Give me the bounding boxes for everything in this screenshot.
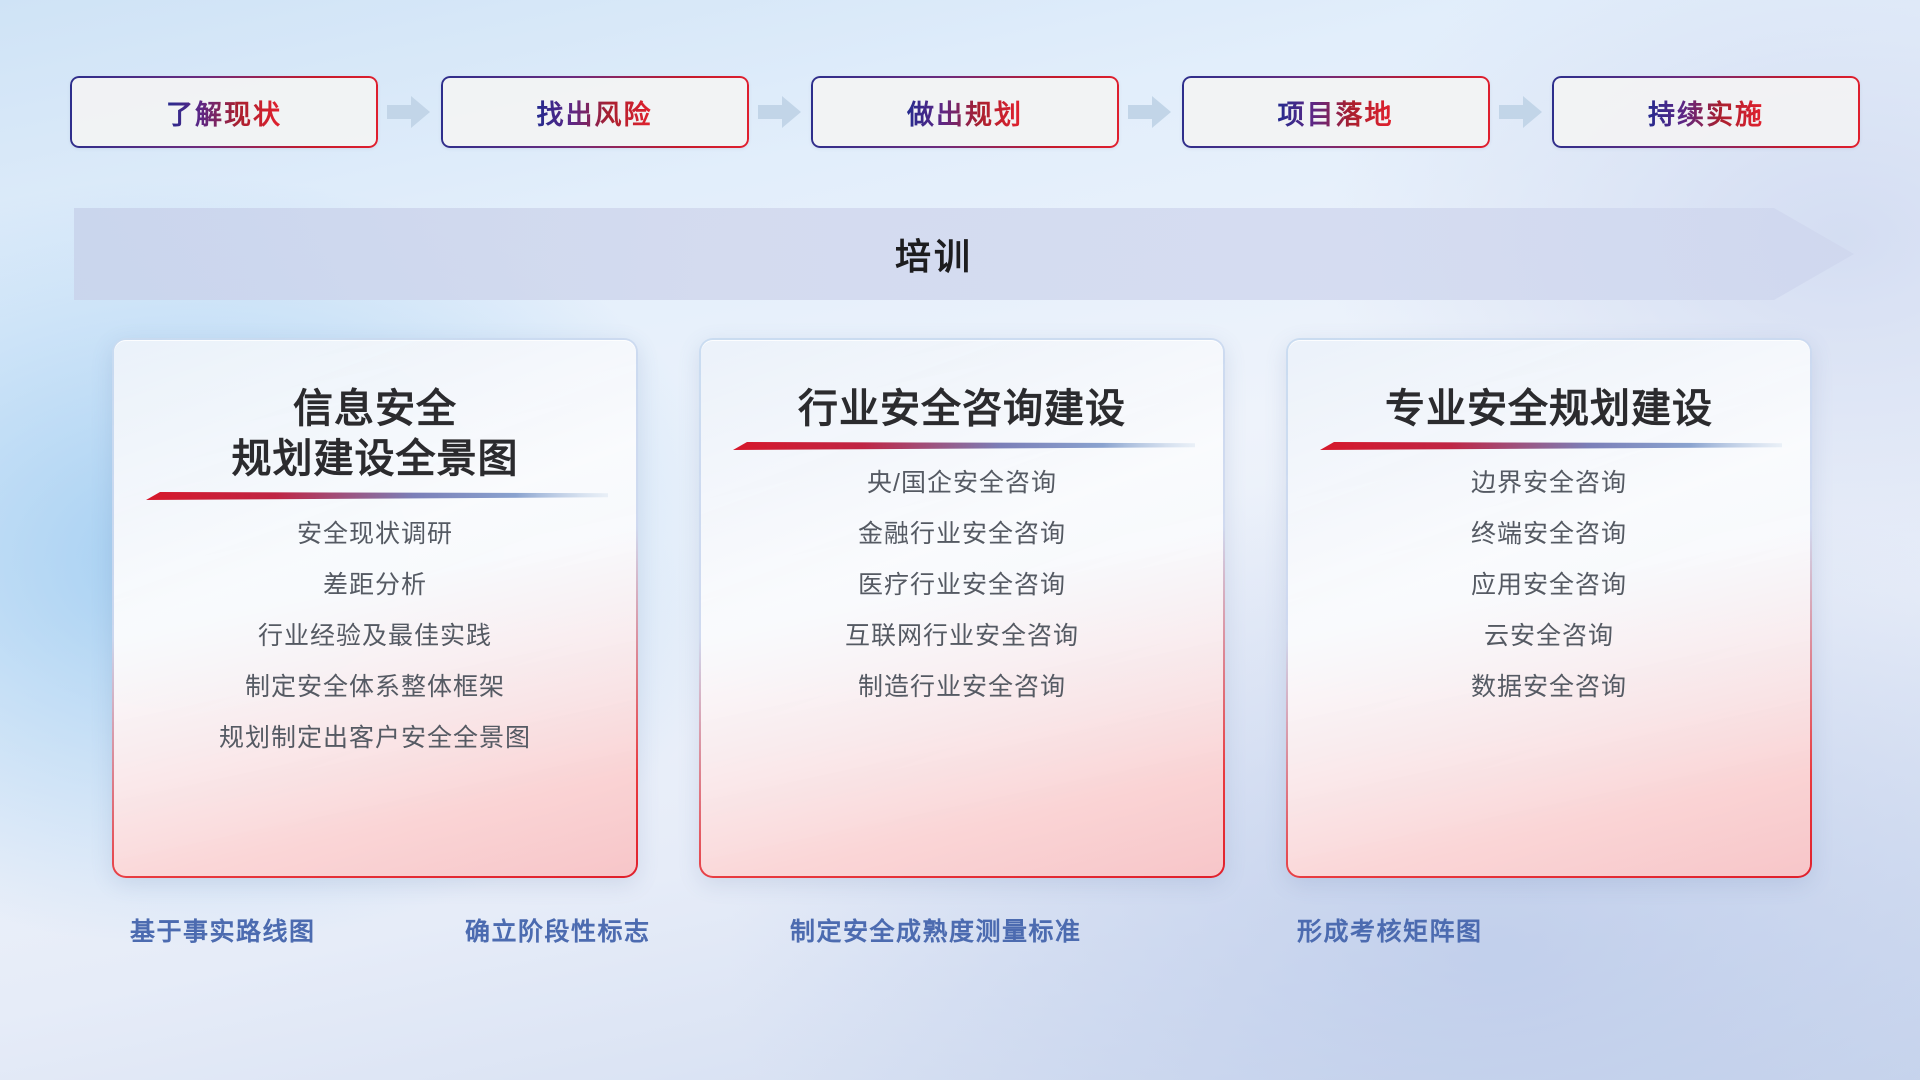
- footer-label-row: 基于事实路线图 确立阶段性标志 制定安全成熟度测量标准 形成考核矩阵图: [0, 912, 1920, 956]
- list-item: 应用安全咨询: [1310, 560, 1788, 611]
- step-button-2[interactable]: 找出风险: [441, 76, 749, 148]
- slide-canvas: 了解现状 找出风险 做出规划 项目落地 持续实施: [0, 0, 1920, 1080]
- card-divider: [701, 434, 1223, 458]
- list-item: 数据安全咨询: [1310, 662, 1788, 713]
- card-title-line: 专业安全规划建设: [1385, 384, 1713, 434]
- arrow-right-icon: [378, 95, 441, 129]
- list-item: 金融行业安全咨询: [723, 509, 1201, 560]
- card-title-line: 行业安全咨询建设: [798, 384, 1126, 434]
- info-card-2[interactable]: 行业安全咨询建设: [699, 338, 1225, 878]
- step-button-4[interactable]: 项目落地: [1182, 76, 1490, 148]
- step-button-5[interactable]: 持续实施: [1552, 76, 1860, 148]
- banner-title: 培训: [74, 208, 1854, 300]
- card-row: 信息安全 规划建设全景图: [112, 338, 1812, 878]
- card-title: 信息安全 规划建设全景图: [212, 384, 539, 485]
- footer-label-3: 制定安全成熟度测量标准: [790, 912, 1082, 948]
- list-item: 云安全咨询: [1310, 611, 1788, 662]
- list-item: 边界安全咨询: [1310, 458, 1788, 509]
- card-divider: [114, 485, 636, 509]
- card-title-line: 信息安全: [232, 384, 519, 434]
- info-card-3[interactable]: 专业安全规划建设: [1286, 338, 1812, 878]
- step-button-3[interactable]: 做出规划: [811, 76, 1119, 148]
- list-item: 央/国企安全咨询: [723, 458, 1201, 509]
- card-item-list: 央/国企安全咨询 金融行业安全咨询 医疗行业安全咨询 互联网行业安全咨询 制造行…: [701, 458, 1223, 713]
- list-item: 制定安全体系整体框架: [136, 662, 614, 713]
- process-step-row: 了解现状 找出风险 做出规划 项目落地 持续实施: [70, 76, 1860, 148]
- footer-label-2: 确立阶段性标志: [465, 912, 651, 948]
- card-title: 专业安全规划建设: [1365, 384, 1733, 434]
- info-card-1[interactable]: 信息安全 规划建设全景图: [112, 338, 638, 878]
- list-item: 安全现状调研: [136, 509, 614, 560]
- list-item: 制造行业安全咨询: [723, 662, 1201, 713]
- list-item: 互联网行业安全咨询: [723, 611, 1201, 662]
- step-label: 持续实施: [1648, 93, 1764, 132]
- card-title-line: 规划建设全景图: [232, 434, 519, 484]
- training-banner: 培训: [74, 208, 1854, 300]
- step-label: 项目落地: [1278, 93, 1394, 132]
- card-divider: [1288, 434, 1810, 458]
- step-button-1[interactable]: 了解现状: [70, 76, 378, 148]
- card-item-list: 边界安全咨询 终端安全咨询 应用安全咨询 云安全咨询 数据安全咨询: [1288, 458, 1810, 713]
- list-item: 终端安全咨询: [1310, 509, 1788, 560]
- step-label: 了解现状: [166, 93, 282, 132]
- step-label: 找出风险: [537, 93, 653, 132]
- list-item: 差距分析: [136, 560, 614, 611]
- arrow-right-icon: [1119, 95, 1182, 129]
- footer-label-1: 基于事实路线图: [130, 912, 316, 948]
- arrow-right-icon: [749, 95, 812, 129]
- list-item: 规划制定出客户安全全景图: [136, 713, 614, 764]
- list-item: 医疗行业安全咨询: [723, 560, 1201, 611]
- list-item: 行业经验及最佳实践: [136, 611, 614, 662]
- arrow-right-icon: [1490, 95, 1553, 129]
- card-title: 行业安全咨询建设: [778, 384, 1146, 434]
- card-item-list: 安全现状调研 差距分析 行业经验及最佳实践 制定安全体系整体框架 规划制定出客户…: [114, 509, 636, 764]
- step-label: 做出规划: [907, 93, 1023, 132]
- footer-label-4: 形成考核矩阵图: [1297, 912, 1483, 948]
